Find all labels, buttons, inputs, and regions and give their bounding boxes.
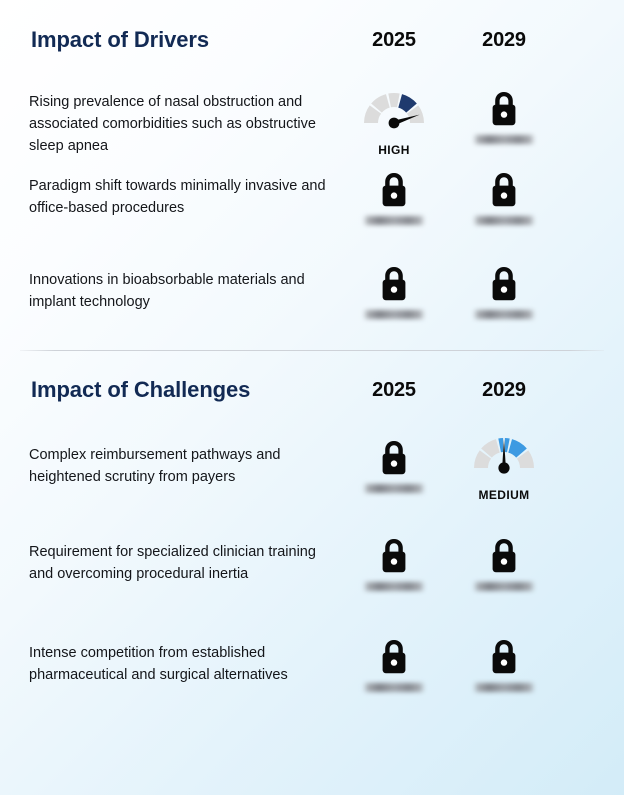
gauge-level-label: MEDIUM (449, 488, 559, 502)
lock-icon (339, 171, 449, 225)
gauge-icon: HIGH (339, 120, 449, 157)
row-label: Complex reimbursement pathways and heigh… (29, 444, 329, 488)
section-title-challenges: Impact of Challenges (31, 377, 250, 403)
cell-2025[interactable] (339, 537, 449, 591)
column-header-2029-challenges: 2029 (449, 379, 559, 402)
locked-value-placeholder (363, 683, 425, 692)
cell-2029[interactable] (449, 171, 559, 225)
gauge-level-label: HIGH (339, 143, 449, 157)
row-label: Rising prevalence of nasal obstruction a… (29, 91, 329, 157)
gauge-icon: MEDIUM (449, 465, 559, 502)
locked-value-placeholder (363, 582, 425, 591)
locked-value-placeholder (363, 484, 425, 493)
cell-2029[interactable] (449, 638, 559, 692)
locked-value-placeholder (363, 310, 425, 319)
row-label: Paradigm shift towards minimally invasiv… (29, 175, 329, 219)
cell-2025[interactable] (339, 171, 449, 225)
cell-2025[interactable]: HIGH (339, 87, 449, 157)
column-header-2029-drivers: 2029 (449, 29, 559, 52)
drivers-header-row: Impact of Drivers 2025 2029 (0, 0, 624, 62)
locked-value-placeholder (473, 310, 535, 319)
lock-icon (339, 537, 449, 591)
lock-icon (449, 537, 559, 591)
cell-2025[interactable] (339, 439, 449, 493)
locked-value-placeholder (473, 135, 535, 144)
challenges-header-row: Impact of Challenges 2025 2029 (0, 350, 624, 412)
column-header-2025-challenges: 2025 (339, 379, 449, 402)
lock-icon (339, 439, 449, 493)
column-header-2025-drivers: 2025 (339, 29, 449, 52)
cell-2025[interactable] (339, 265, 449, 319)
cell-2029[interactable] (449, 537, 559, 591)
lock-icon (449, 171, 559, 225)
lock-icon (449, 638, 559, 692)
section-drivers: Impact of Drivers 2025 2029 Rising preva… (0, 0, 624, 62)
lock-icon (449, 90, 559, 144)
row-label: Innovations in bioabsorbable materials a… (29, 269, 329, 313)
lock-icon (449, 265, 559, 319)
section-challenges: Impact of Challenges 2025 2029 Complex r… (0, 350, 624, 412)
cell-2025[interactable] (339, 638, 449, 692)
locked-value-placeholder (473, 582, 535, 591)
locked-value-placeholder (473, 683, 535, 692)
cell-2029[interactable] (449, 265, 559, 319)
row-label: Intense competition from established pha… (29, 642, 329, 686)
impact-matrix-sheet: Impact of Drivers 2025 2029 Rising preva… (0, 0, 624, 795)
locked-value-placeholder (473, 216, 535, 225)
locked-value-placeholder (363, 216, 425, 225)
section-title-drivers: Impact of Drivers (31, 27, 209, 53)
cell-2029[interactable] (449, 90, 559, 144)
row-label: Requirement for specialized clinician tr… (29, 541, 329, 585)
lock-icon (339, 638, 449, 692)
cell-2029[interactable]: MEDIUM (449, 428, 559, 502)
lock-icon (339, 265, 449, 319)
